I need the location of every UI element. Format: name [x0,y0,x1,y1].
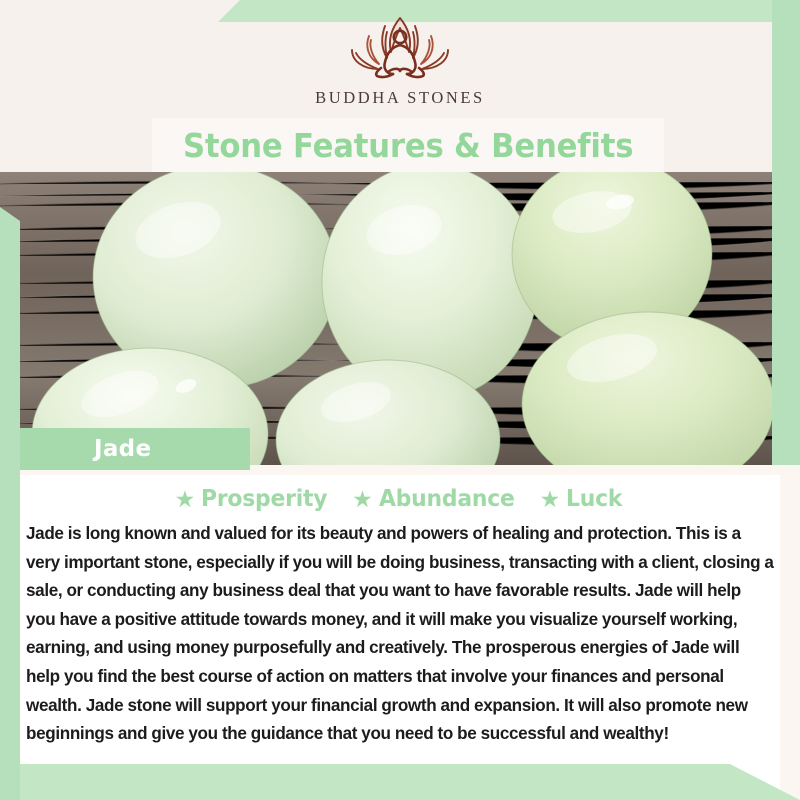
left-green-band [0,207,20,800]
stone-description: Jade is long known and valued for its be… [26,520,774,749]
benefits-row: ★ Prosperity ★ Abundance ★ Luck [20,475,780,512]
benefit-label: Luck [566,486,622,512]
title-banner: Stone Features & Benefits [152,118,664,172]
infographic-poster: BUDDHA STONES [0,0,800,800]
stone-name-label: Jade [94,436,151,462]
benefit-item: ★ Prosperity [175,486,335,512]
star-icon: ★ [352,488,373,511]
lotus-meditation-icon [325,12,475,84]
bottom-green-band [0,764,800,800]
content-panel: ★ Prosperity ★ Abundance ★ Luck Jade is … [0,465,800,800]
brand-wordmark: BUDDHA STONES [315,88,485,108]
content-inner: ★ Prosperity ★ Abundance ★ Luck Jade is … [20,475,780,790]
brand-logo-zone: BUDDHA STONES [0,0,800,120]
benefit-label: Abundance [379,486,515,512]
benefit-item: ★ Luck [540,486,626,512]
stone-name-bar: Jade [20,428,250,470]
benefit-item: ★ Abundance [352,486,521,512]
page-title: Stone Features & Benefits [183,126,633,165]
star-icon: ★ [540,488,561,511]
benefit-label: Prosperity [201,486,327,512]
jade-stones-photo [0,172,800,465]
star-icon: ★ [175,488,196,511]
